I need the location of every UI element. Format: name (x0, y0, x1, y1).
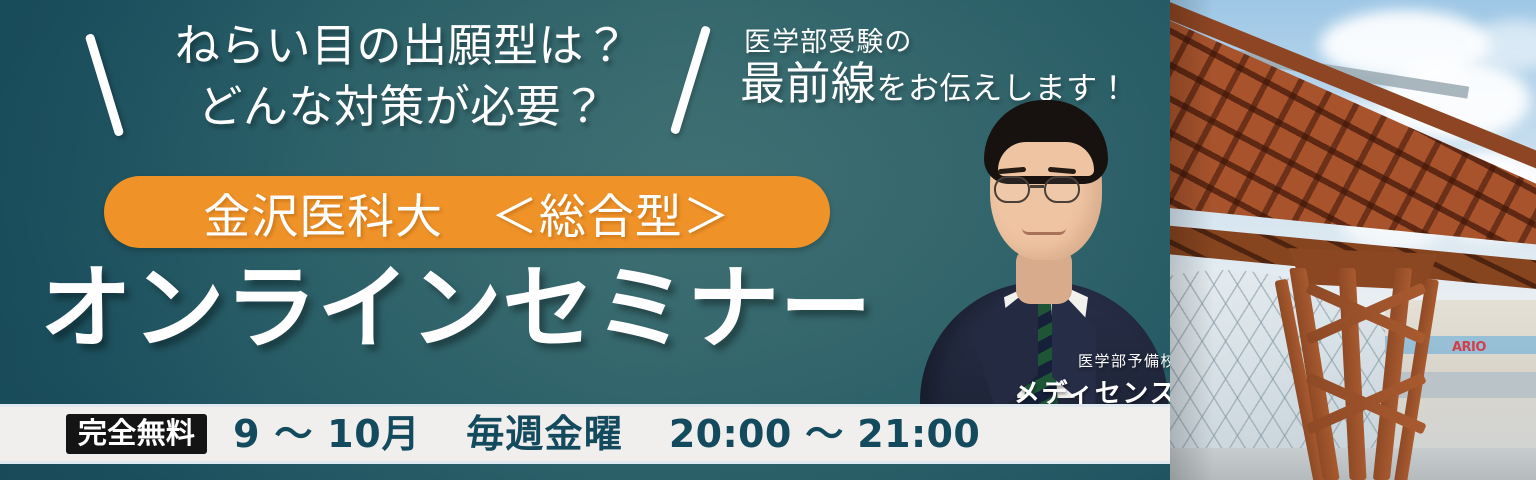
glasses-lens-right-icon (1044, 176, 1080, 203)
schedule-weekday: 毎週金曜 (466, 415, 623, 453)
presenter-mouth (1022, 228, 1066, 235)
headline-line-2: どんな対策が必要？ (122, 77, 682, 138)
glasses-lens-left-icon (994, 176, 1030, 203)
seminar-banner: ねらい目の出願型は？ どんな対策が必要？ 医学部受験の 最前線をお伝えします！ … (0, 0, 1536, 480)
schedule-months: 9 〜 10月 (233, 415, 420, 453)
headline-line-1: ねらい目の出願型は？ (122, 16, 682, 77)
schedule-time: 20:00 〜 21:00 (669, 415, 980, 453)
page-title: オンラインセミナー (40, 258, 872, 359)
university-pill-label: 金沢医科大 ＜総合型＞ (203, 178, 730, 247)
glasses-bridge-icon (1030, 185, 1044, 188)
headline: ねらい目の出願型は？ どんな対策が必要？ (122, 16, 682, 138)
schedule-bar: 完全無料 9 〜 10月 毎週金曜 20:00 〜 21:00 (0, 404, 1170, 464)
station-gate-photo: ARIO (1170, 0, 1536, 480)
free-badge: 完全無料 (66, 414, 207, 454)
brand-logo: 医学部予備校 メディセンス (1014, 350, 1177, 410)
subheadline-line-1: 医学部受験の (744, 20, 1129, 59)
gate-pillar (1292, 268, 1432, 480)
subheadline-emphasis: 最前線 (740, 57, 876, 110)
university-pill-badge: 金沢医科大 ＜総合型＞ (104, 176, 830, 248)
mall-sign: ARIO (1452, 340, 1486, 355)
brand-superline: 医学部予備校 (1014, 350, 1177, 371)
